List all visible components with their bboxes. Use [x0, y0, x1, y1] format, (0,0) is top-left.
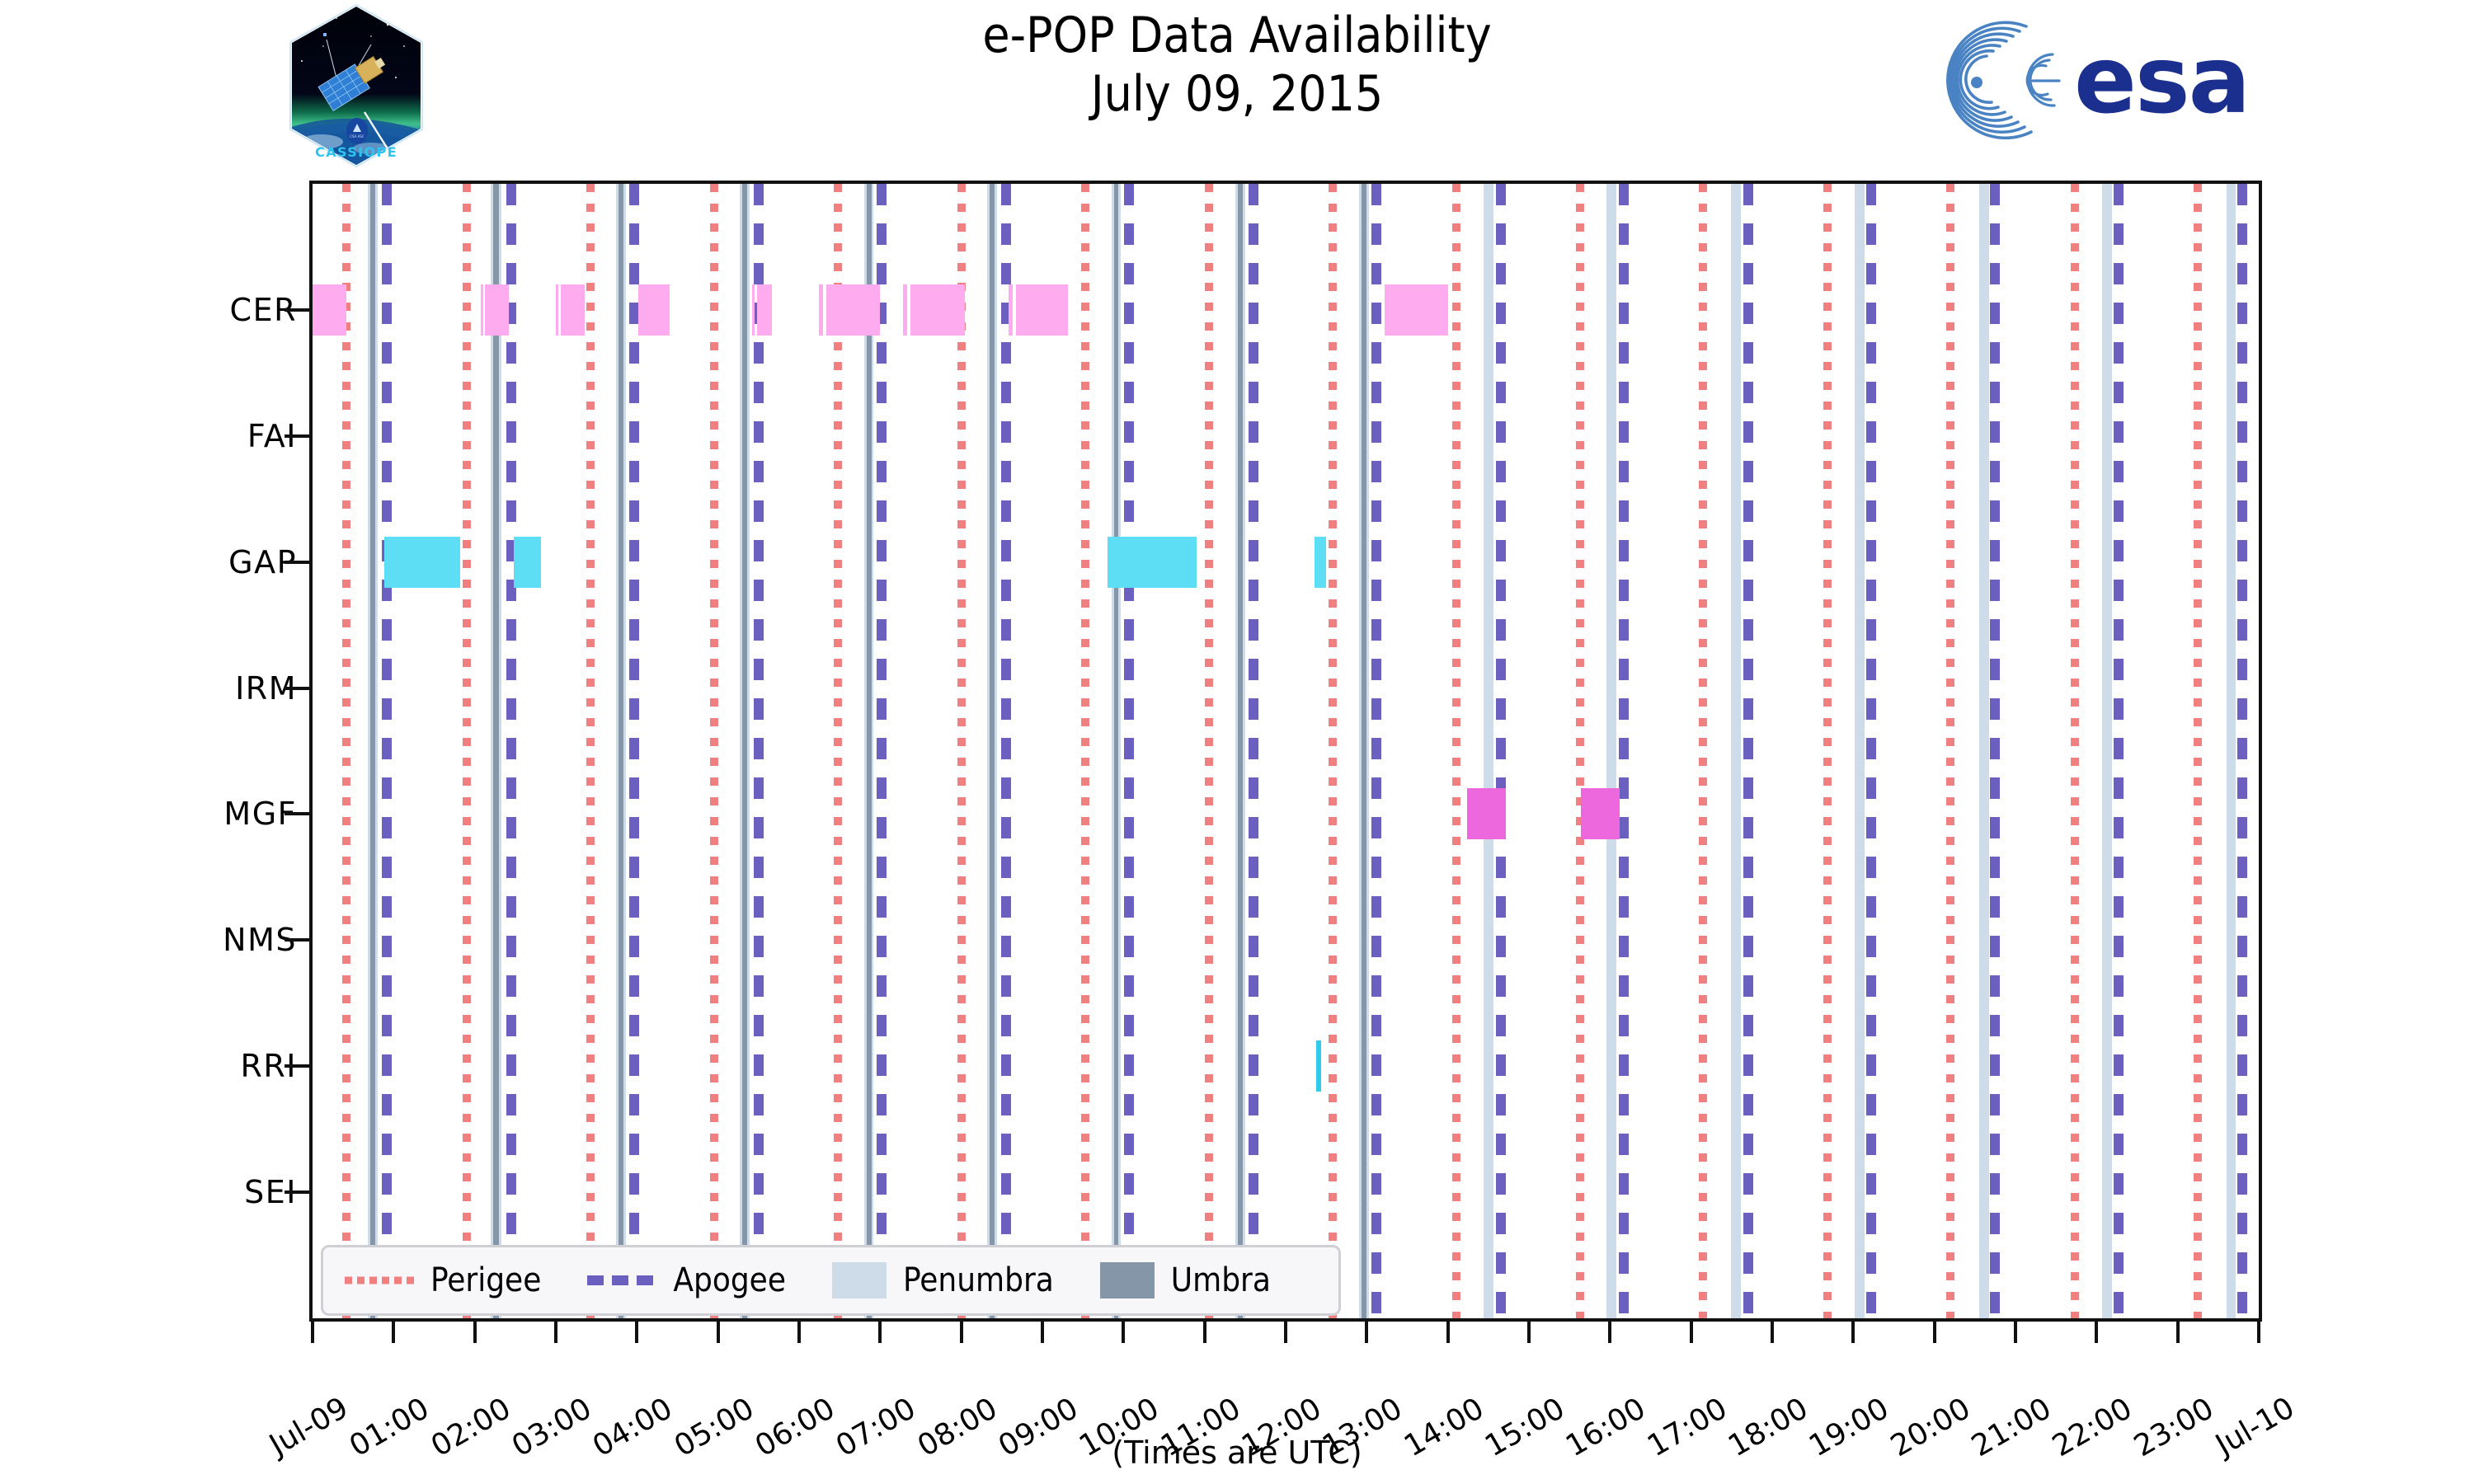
x-axis-tick-8 — [960, 1322, 963, 1343]
chart-legend: PerigeeApogeePenumbraUmbra — [321, 1245, 1341, 1316]
data-bar-cer — [752, 284, 755, 336]
apogee-line — [1249, 184, 1258, 1318]
apogee-line — [1371, 184, 1381, 1318]
legend-item-perigee: Perigee — [345, 1261, 541, 1299]
x-axis-tick-12 — [1284, 1322, 1287, 1343]
perigee-line — [586, 184, 595, 1318]
x-axis-tick-23 — [2176, 1322, 2180, 1343]
apogee-line — [1990, 184, 2000, 1318]
x-axis-tick-0 — [311, 1322, 314, 1343]
perigee-line — [1081, 184, 1089, 1318]
perigee-line — [2194, 184, 2202, 1318]
perigee-line — [463, 184, 471, 1318]
page-header: CSA ASC CASSIOPE e-POP Data Availability… — [0, 0, 2474, 177]
penumbra-band — [1606, 184, 1616, 1318]
y-axis-label-gap: GAP — [25, 544, 297, 580]
data-bar-cer — [481, 284, 483, 336]
data-bar-cer — [1385, 284, 1448, 336]
perigee-line — [1452, 184, 1460, 1318]
data-bar-cer — [910, 284, 965, 336]
esa-logo: esa — [1942, 8, 2338, 148]
umbra-band — [1362, 184, 1366, 1318]
legend-swatch-penumbra — [832, 1262, 887, 1298]
x-axis-tick-18 — [1771, 1322, 1774, 1343]
x-axis-tick-17 — [1690, 1322, 1693, 1343]
x-axis-tick-14 — [1446, 1322, 1450, 1343]
legend-swatch-umbra — [1100, 1262, 1155, 1298]
apogee-line — [754, 184, 764, 1318]
y-axis-label-nms: NMS — [25, 922, 297, 958]
perigee-line — [342, 184, 350, 1318]
apogee-line — [877, 184, 887, 1318]
y-axis-tick-cer — [285, 308, 309, 312]
x-axis-tick-9 — [1041, 1322, 1044, 1343]
chart-plot-area — [309, 181, 2262, 1322]
data-bar-gap — [1315, 537, 1326, 588]
legend-item-umbra: Umbra — [1100, 1261, 1271, 1299]
y-axis-tick-rri — [285, 1064, 309, 1068]
penumbra-band — [1979, 184, 1989, 1318]
data-bar-cer — [826, 284, 880, 336]
x-axis-tick-3 — [554, 1322, 557, 1343]
x-axis-tick-15 — [1527, 1322, 1531, 1343]
umbra-band — [1238, 184, 1243, 1318]
apogee-line — [506, 184, 516, 1318]
perigee-line — [1946, 184, 1954, 1318]
plot-inner — [313, 184, 2259, 1318]
data-bar-mgf — [1467, 788, 1506, 839]
penumbra-band — [2227, 184, 2236, 1318]
umbra-band — [990, 184, 995, 1318]
y-axis-tick-irm — [285, 687, 309, 690]
y-axis-tick-mgf — [285, 812, 309, 815]
x-axis-tick-5 — [717, 1322, 720, 1343]
x-axis-tick-2 — [473, 1322, 477, 1343]
svg-text:CSA ASC: CSA ASC — [350, 134, 365, 139]
apogee-line — [1124, 184, 1134, 1318]
x-axis-tick-11 — [1203, 1322, 1206, 1343]
apogee-line — [1001, 184, 1011, 1318]
x-axis-tick-22 — [2095, 1322, 2098, 1343]
x-axis-tick-6 — [797, 1322, 801, 1343]
apogee-line — [2237, 184, 2247, 1318]
x-axis-tick-4 — [635, 1322, 638, 1343]
legend-sample-apogee — [587, 1266, 656, 1294]
umbra-band — [742, 184, 747, 1318]
perigee-line — [1329, 184, 1337, 1318]
y-axis-label-mgf: MGF — [25, 796, 297, 832]
legend-label-umbra: Umbra — [1171, 1261, 1271, 1299]
x-axis-caption: (Times are UTC) — [0, 1435, 2474, 1471]
penumbra-band — [2102, 184, 2112, 1318]
x-axis-tick-24 — [2257, 1322, 2260, 1343]
y-axis-label-irm: IRM — [25, 670, 297, 707]
x-axis-tick-21 — [2014, 1322, 2017, 1343]
apogee-line — [382, 184, 392, 1318]
umbra-band — [370, 184, 375, 1318]
y-axis-tick-nms — [285, 938, 309, 942]
apogee-line — [1619, 184, 1629, 1318]
data-bar-cer — [1009, 284, 1013, 336]
perigee-line — [710, 184, 718, 1318]
data-bar-mgf — [1581, 788, 1620, 839]
data-bar-cer — [638, 284, 669, 336]
y-axis-label-cer: CER — [25, 292, 297, 328]
penumbra-band — [1484, 184, 1493, 1318]
data-bar-cer — [561, 284, 586, 336]
data-bar-cer — [1016, 284, 1069, 336]
perigee-line — [834, 184, 842, 1318]
title-line-1: e-POP Data Availability — [982, 7, 1491, 64]
data-bar-cer — [313, 284, 346, 336]
esa-logo-text: esa — [2074, 27, 2249, 134]
penumbra-band — [1731, 184, 1741, 1318]
y-axis-label-sei: SEI — [25, 1174, 297, 1210]
umbra-band — [1114, 184, 1119, 1318]
x-axis-tick-1 — [392, 1322, 395, 1343]
x-axis-tick-20 — [1933, 1322, 1936, 1343]
cassiope-logo-caption: CASSIOPE — [315, 144, 397, 160]
x-axis-tick-19 — [1851, 1322, 1855, 1343]
y-axis-tick-gap — [285, 561, 309, 564]
data-bar-cer — [485, 284, 509, 336]
legend-label-perigee: Perigee — [430, 1261, 541, 1299]
umbra-band — [493, 184, 499, 1318]
perigee-line — [1205, 184, 1213, 1318]
data-bar-cer — [819, 284, 824, 336]
apogee-line — [1496, 184, 1506, 1318]
legend-sample-perigee — [345, 1266, 414, 1294]
apogee-line — [629, 184, 639, 1318]
perigee-line — [957, 184, 966, 1318]
data-bar-rri — [1316, 1040, 1321, 1092]
data-bar-gap — [514, 537, 541, 588]
y-axis-label-fai: FAI — [25, 418, 297, 454]
perigee-line — [1576, 184, 1584, 1318]
legend-item-apogee: Apogee — [587, 1261, 786, 1299]
data-bar-cer — [903, 284, 907, 336]
data-bar-gap — [1108, 537, 1197, 588]
legend-item-penumbra: Penumbra — [832, 1261, 1054, 1299]
y-axis-tick-sei — [285, 1190, 309, 1194]
perigee-line — [1699, 184, 1707, 1318]
x-axis-tick-7 — [878, 1322, 882, 1343]
data-bar-cer — [757, 284, 772, 336]
data-bar-gap — [384, 537, 460, 588]
apogee-line — [1866, 184, 1876, 1318]
y-axis-tick-fai — [285, 434, 309, 438]
apogee-line — [1743, 184, 1753, 1318]
x-axis-tick-16 — [1608, 1322, 1611, 1343]
umbra-band — [618, 184, 623, 1318]
legend-label-penumbra: Penumbra — [903, 1261, 1054, 1299]
perigee-line — [2071, 184, 2079, 1318]
y-axis-label-rri: RRI — [25, 1048, 297, 1084]
penumbra-band — [1855, 184, 1865, 1318]
data-bar-cer — [556, 284, 558, 336]
legend-label-apogee: Apogee — [673, 1261, 786, 1299]
x-axis-tick-10 — [1122, 1322, 1125, 1343]
x-axis-tick-13 — [1365, 1322, 1368, 1343]
apogee-line — [2114, 184, 2124, 1318]
umbra-band — [867, 184, 872, 1318]
perigee-line — [1823, 184, 1832, 1318]
